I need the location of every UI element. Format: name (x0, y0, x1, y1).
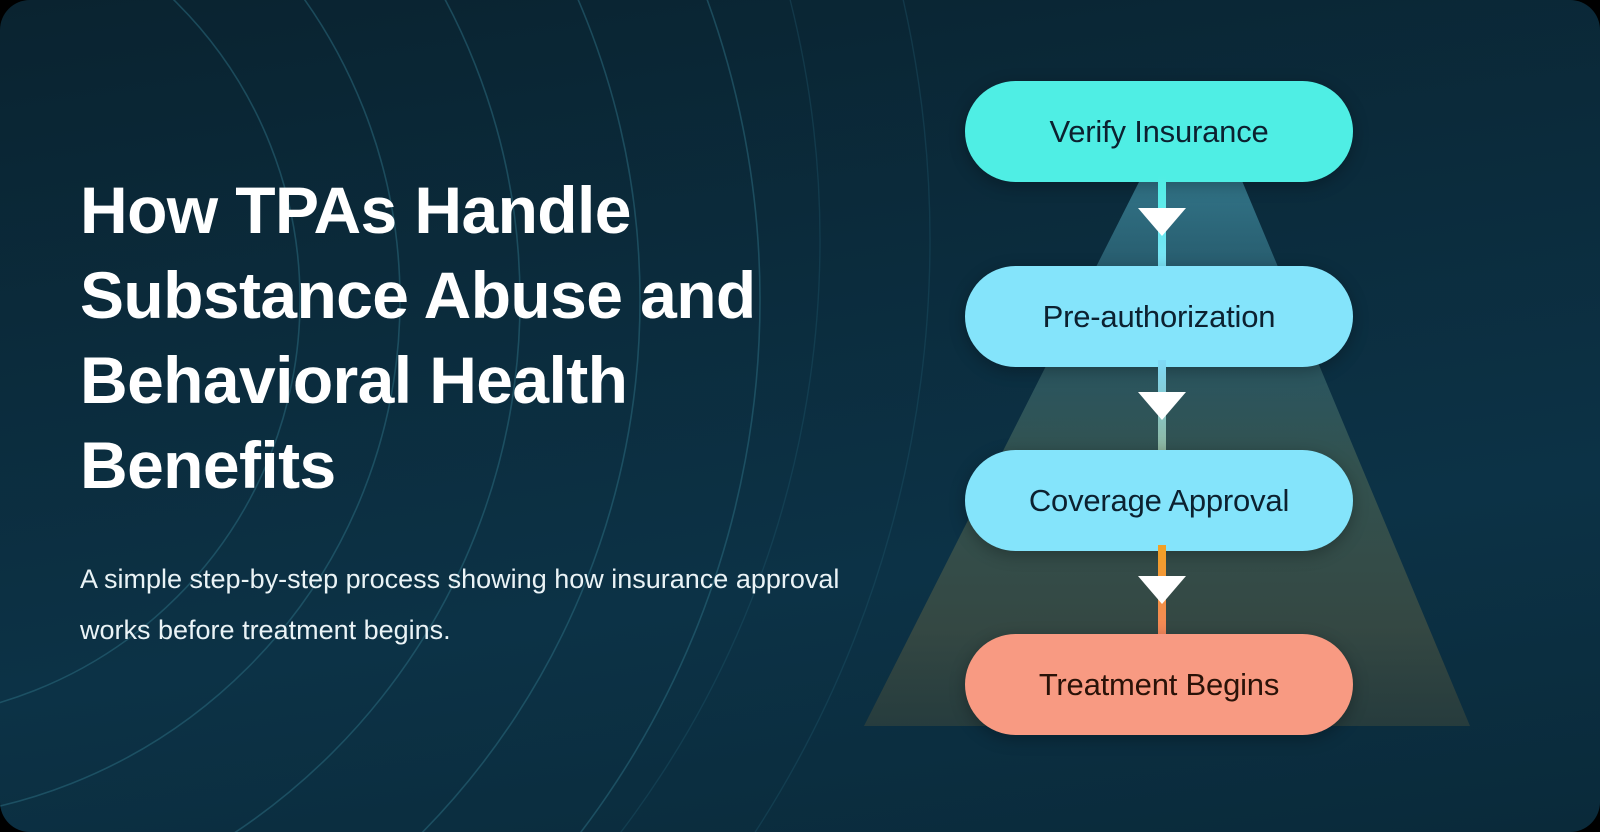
arrow-down-icon (1138, 208, 1186, 236)
flow-node-pre-authorization[interactable]: Pre-authorization (965, 266, 1353, 367)
flow-node-verify-insurance[interactable]: Verify Insurance (965, 81, 1353, 182)
process-flow-diagram: Verify Insurance Pre-authorization Cover… (820, 0, 1600, 832)
flow-node-label: Verify Insurance (1049, 116, 1268, 147)
flow-node-label: Treatment Begins (1039, 669, 1279, 700)
page-title: How TPAs Handle Substance Abuse and Beha… (80, 168, 860, 508)
infographic-canvas: How TPAs Handle Substance Abuse and Beha… (0, 0, 1600, 832)
page-subtitle: A simple step-by-step process showing ho… (80, 508, 870, 656)
arrow-down-icon (1138, 576, 1186, 604)
arrow-down-icon (1138, 392, 1186, 420)
flow-node-coverage-approval[interactable]: Coverage Approval (965, 450, 1353, 551)
flow-node-treatment-begins[interactable]: Treatment Begins (965, 634, 1353, 735)
flow-node-label: Coverage Approval (1029, 485, 1289, 516)
flow-node-label: Pre-authorization (1043, 301, 1276, 332)
text-column: How TPAs Handle Substance Abuse and Beha… (80, 168, 860, 656)
